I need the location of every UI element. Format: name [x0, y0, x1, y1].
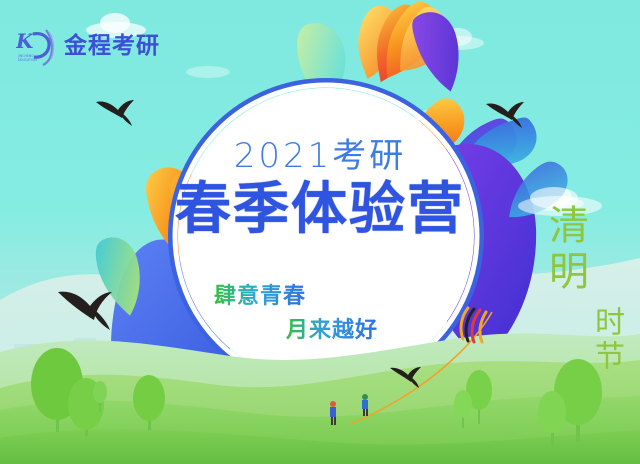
kc-monogram-icon: K JINCHENG EDUCATION [16, 26, 60, 66]
white-circle [178, 88, 474, 384]
vertical-text-shijie: 时节 [584, 306, 628, 374]
brand-name: 金程考研 [64, 35, 160, 58]
svg-text:K: K [16, 29, 35, 53]
swallow-icon [96, 100, 134, 126]
vertical-text-qingming: 清明 [536, 204, 594, 296]
svg-text:EDUCATION: EDUCATION [18, 58, 37, 62]
promo-banner: K JINCHENG EDUCATION 金程考研 2021考研 春季体验营 肆… [0, 0, 640, 464]
brand-logo[interactable]: K JINCHENG EDUCATION 金程考研 [16, 26, 160, 66]
